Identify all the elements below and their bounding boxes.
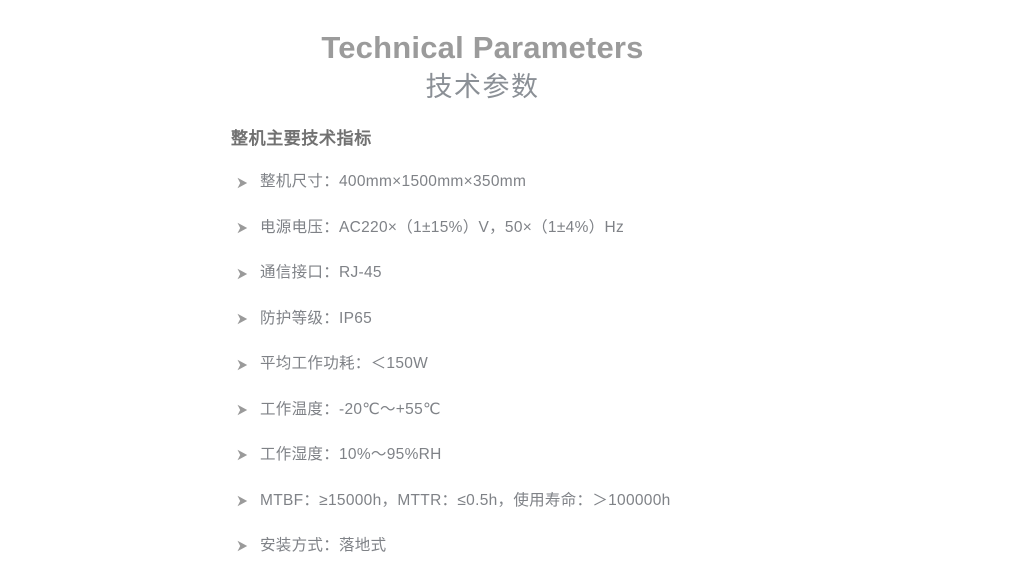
page-heading: Technical Parameters 技术参数 (0, 30, 965, 105)
list-item-label: 电源电压：AC220×（1±15%）V，50×（1±4%）Hz (260, 219, 624, 236)
arrow-bullet-icon (236, 176, 249, 189)
list-item-label: 平均工作功耗：＜150W (260, 355, 428, 372)
page-title-english: Technical Parameters (0, 30, 965, 66)
arrow-bullet-icon (236, 449, 249, 462)
page-title-chinese: 技术参数 (0, 70, 965, 105)
arrow-bullet-icon (236, 313, 249, 326)
list-item: 电源电压：AC220×（1±15%）V，50×（1±4%）Hz (231, 217, 991, 239)
list-item: 防护等级：IP65 (231, 308, 991, 330)
section-heading: 整机主要技术指标 (231, 129, 991, 149)
list-item-label: MTBF：≥15000h，MTTR：≤0.5h，使用寿命：＞100000h (260, 492, 671, 509)
arrow-bullet-icon (236, 494, 249, 507)
list-item-label: 防护等级：IP65 (260, 310, 372, 327)
arrow-bullet-icon (236, 358, 249, 371)
spec-list: 整机尺寸：400mm×1500mm×350mm 电源电压：AC220×（1±15… (231, 171, 991, 557)
spec-section: 整机主要技术指标 整机尺寸：400mm×1500mm×350mm 电源电压：AC… (231, 129, 991, 558)
technical-parameters-page: Technical Parameters 技术参数 整机主要技术指标 整机尺寸：… (0, 0, 1030, 572)
arrow-bullet-icon (236, 403, 249, 416)
arrow-bullet-icon (236, 540, 249, 553)
list-item-label: 安装方式：落地式 (260, 537, 386, 554)
list-item-label: 整机尺寸：400mm×1500mm×350mm (260, 173, 526, 190)
list-item: 工作湿度：10%～95%RH (231, 444, 991, 466)
list-item-label: 通信接口：RJ-45 (260, 264, 382, 281)
list-item-label: 工作湿度：10%～95%RH (260, 446, 442, 463)
list-item: MTBF：≥15000h，MTTR：≤0.5h，使用寿命：＞100000h (231, 490, 991, 512)
list-item: 工作温度：-20℃～+55℃ (231, 399, 991, 421)
list-item: 整机尺寸：400mm×1500mm×350mm (231, 171, 991, 193)
list-item: 安装方式：落地式 (231, 535, 991, 557)
arrow-bullet-icon (236, 267, 249, 280)
list-item-label: 工作温度：-20℃～+55℃ (260, 401, 441, 418)
list-item: 平均工作功耗：＜150W (231, 353, 991, 375)
arrow-bullet-icon (236, 222, 249, 235)
list-item: 通信接口：RJ-45 (231, 262, 991, 284)
